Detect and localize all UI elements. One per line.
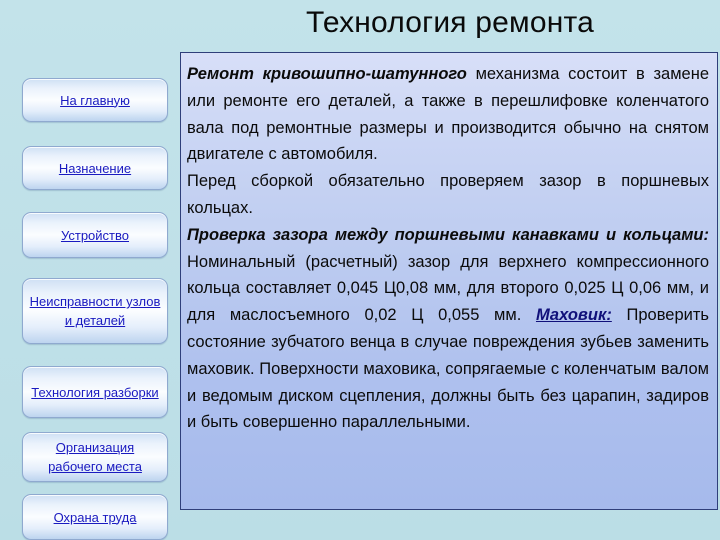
sidebar-item-label: Технология разборки [27, 383, 162, 402]
paragraph-2-body: Перед сборкой обязательно проверяем зазо… [187, 172, 709, 217]
sidebar-item-label: На главную [56, 91, 134, 110]
content-panel: Ремонт кривошипно-шатунного механизма со… [180, 52, 718, 510]
sidebar-item-label: Охрана труда [50, 508, 141, 527]
page-title: Технология ремонта [180, 4, 720, 42]
sidebar-item-naznachenie[interactable]: Назначение [22, 146, 168, 190]
paragraph-3: Проверка зазора между поршневыми канавка… [187, 222, 709, 436]
content-body: Ремонт кривошипно-шатунного механизма со… [187, 61, 709, 436]
sidebar-item-label: Неисправности узлов и деталей [23, 292, 167, 330]
sidebar-item-na-glavnuyu[interactable]: На главную [22, 78, 168, 122]
paragraph-1: Ремонт кривошипно-шатунного механизма со… [187, 61, 709, 168]
paragraph-3-body2: Проверить состояние зубчатого венца в сл… [187, 306, 709, 431]
paragraph-1-lead: Ремонт кривошипно-шатунного [187, 65, 467, 83]
paragraph-2: Перед сборкой обязательно проверяем зазо… [187, 168, 709, 222]
sidebar-item-neispravnosti[interactable]: Неисправности узлов и деталей [22, 278, 168, 344]
sidebar-item-label: Организация рабочего места [23, 438, 167, 476]
slide-canvas: Технология ремонта На главную Назначение… [0, 0, 720, 540]
paragraph-3-lead2: Маховик: [536, 306, 612, 324]
sidebar-item-label: Устройство [57, 226, 133, 245]
sidebar-item-ohrana-truda[interactable]: Охрана труда [22, 494, 168, 540]
sidebar-item-ustroystvo[interactable]: Устройство [22, 212, 168, 258]
sidebar-item-tehnologiya-razborki[interactable]: Технология разборки [22, 366, 168, 418]
sidebar-item-organizaciya-rabochego-mesta[interactable]: Организация рабочего места [22, 432, 168, 482]
sidebar-item-label: Назначение [55, 159, 135, 178]
paragraph-3-lead: Проверка зазора между поршневыми канавка… [187, 226, 709, 244]
